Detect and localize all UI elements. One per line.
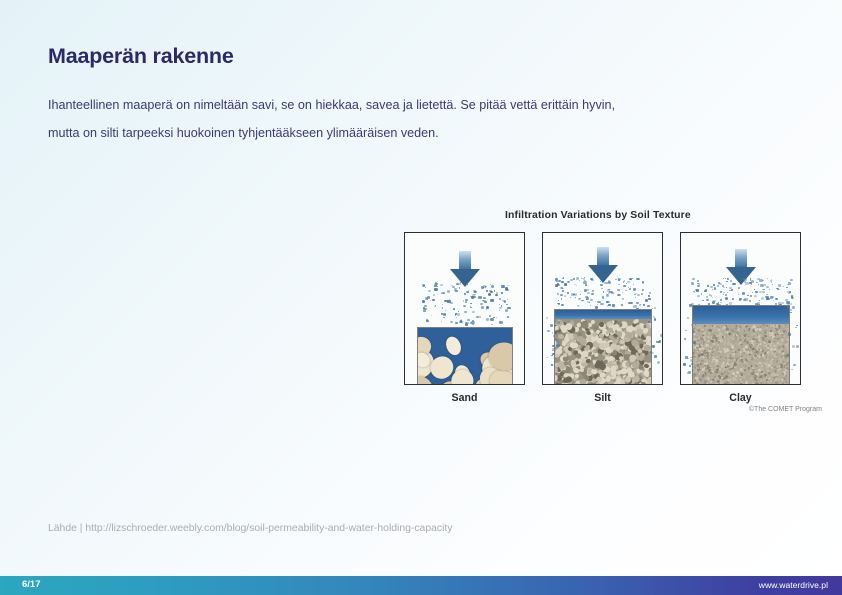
- body-line-2: mutta on silti tarpeeksi huokoinen tyhje…: [48, 120, 708, 148]
- panel-silt: Silt: [542, 232, 663, 404]
- figure-panels: Sand Silt: [404, 232, 801, 404]
- panel-label-clay: Clay: [680, 392, 801, 404]
- panel-clay: Clay: [680, 232, 801, 404]
- water-layer-clay: [693, 306, 789, 324]
- panel-label-silt: Silt: [542, 392, 663, 404]
- footer-url: www.waterdrive.pl: [759, 580, 828, 590]
- infiltration-figure: Infiltration Variations by Soil Texture …: [404, 210, 824, 420]
- page-title: Maaperän rakenne: [48, 44, 234, 69]
- soil-block-clay: [692, 305, 790, 385]
- body-paragraph: Ihanteellinen maaperä on nimeltään savi,…: [48, 92, 708, 147]
- water-layer-silt: [555, 310, 651, 319]
- panel-sand-box: [404, 232, 525, 385]
- body-line-1: Ihanteellinen maaperä on nimeltään savi,…: [48, 92, 708, 120]
- panel-sand: Sand: [404, 232, 525, 404]
- soil-block-silt: [554, 309, 652, 385]
- panel-label-sand: Sand: [404, 392, 525, 404]
- soil-block-sand: [417, 327, 513, 385]
- panel-clay-box: [680, 232, 801, 385]
- panel-silt-box: [542, 232, 663, 385]
- splash-speckles-silt: [543, 277, 662, 313]
- page-indicator: 6/17: [22, 579, 41, 590]
- splash-speckles-sand: [405, 281, 524, 325]
- slide-footer: 6/17 www.waterdrive.pl: [0, 576, 842, 595]
- figure-credit: ©The COMET Program: [749, 406, 822, 413]
- figure-title: Infiltration Variations by Soil Texture: [505, 210, 691, 221]
- slide-canvas: Maaperän rakenne Ihanteellinen maaperä o…: [0, 0, 842, 595]
- source-attribution: Lähde | http://lizschroeder.weebly.com/b…: [48, 523, 452, 534]
